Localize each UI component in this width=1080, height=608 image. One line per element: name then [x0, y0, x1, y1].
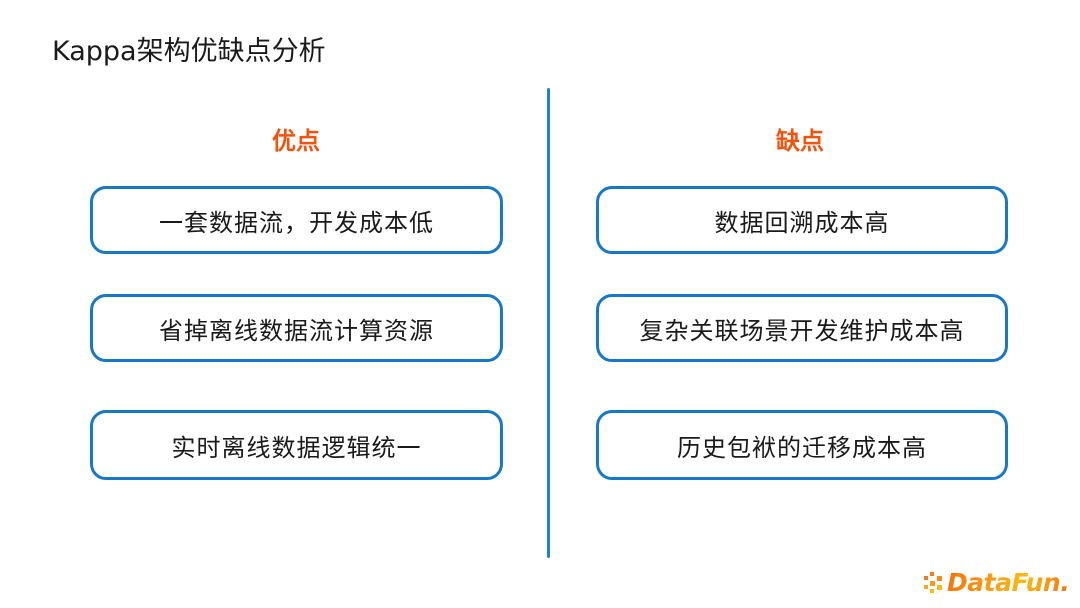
pros-item-box: 一套数据流，开发成本低: [90, 186, 503, 254]
cons-column-heading: 缺点: [600, 126, 1000, 156]
datafun-logo: DataFun.: [924, 568, 1072, 598]
slide-canvas: Kappa架构优缺点分析 优点 缺点 一套数据流，开发成本低 省掉离线数据流计算…: [0, 0, 1080, 608]
pros-item-box: 省掉离线数据流计算资源: [90, 294, 503, 362]
datafun-dots-icon: [924, 572, 946, 594]
column-divider: [547, 88, 550, 558]
pros-item-box: 实时离线数据逻辑统一: [90, 410, 503, 480]
cons-item-box: 数据回溯成本高: [596, 186, 1008, 254]
pros-column-heading: 优点: [96, 126, 496, 156]
page-title: Kappa架构优缺点分析: [52, 35, 326, 69]
datafun-logo-text: DataFun.: [947, 568, 1069, 598]
cons-item-box: 复杂关联场景开发维护成本高: [596, 294, 1008, 362]
cons-item-box: 历史包袱的迁移成本高: [596, 410, 1008, 480]
